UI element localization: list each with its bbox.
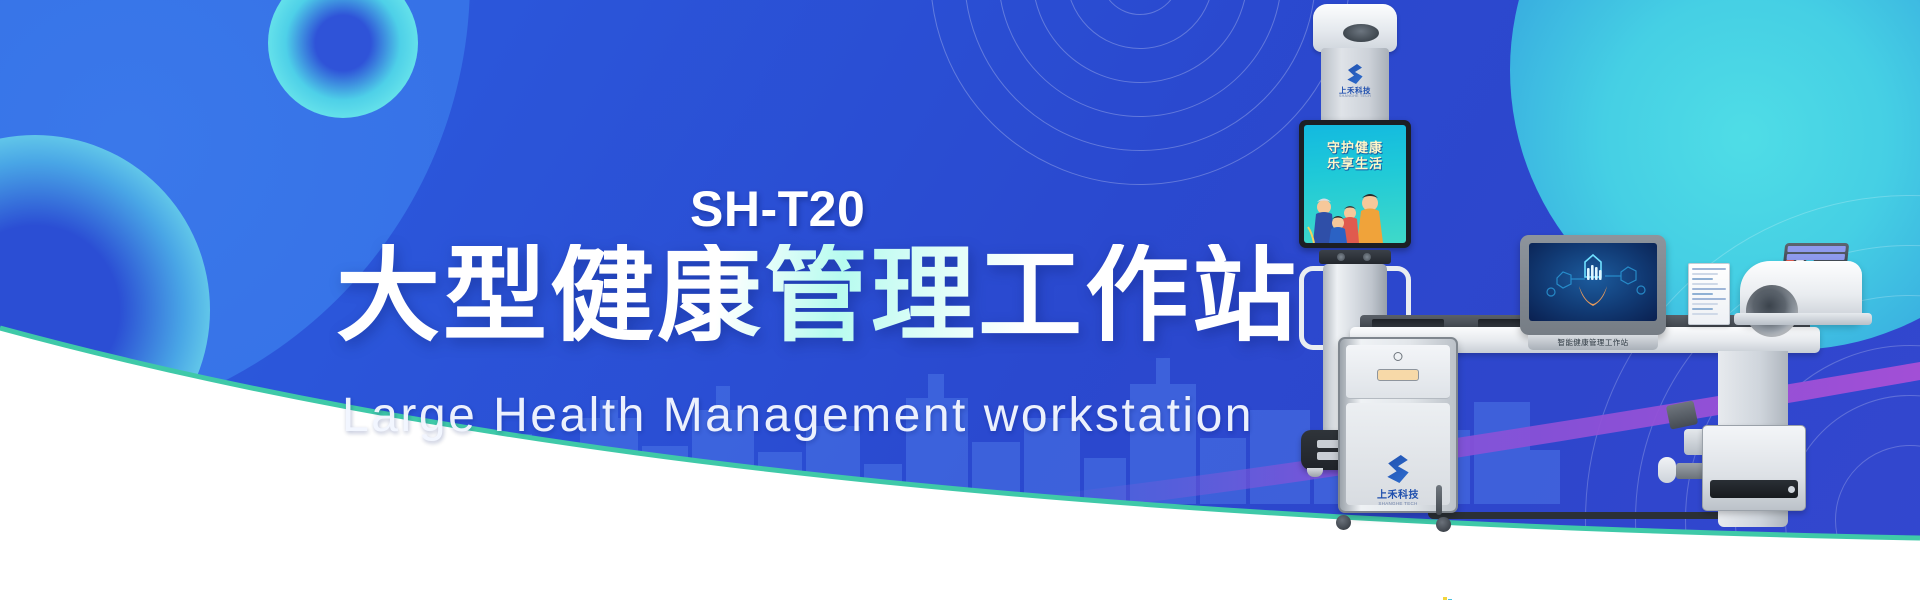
accessory-clip bbox=[1666, 400, 1698, 429]
leaflet-line bbox=[1692, 293, 1713, 295]
workstation-monitor: 智能健康管理工作站 bbox=[1520, 235, 1666, 335]
model-code: SH-T20 bbox=[690, 180, 865, 238]
kiosk-screen-line2: 乐享生活 bbox=[1304, 153, 1406, 172]
kiosk-foot bbox=[1307, 468, 1323, 477]
cabinet-brand-logo: 上禾科技 SHANGHE TECH bbox=[1377, 455, 1419, 506]
health-data-hand-icon bbox=[1529, 243, 1657, 321]
family-illustration-icon bbox=[1304, 181, 1406, 243]
cabinet-upper-drawer[interactable] bbox=[1346, 345, 1450, 399]
printer-unit bbox=[1702, 425, 1806, 511]
cabinet-handle[interactable] bbox=[1436, 485, 1442, 515]
monitor-stand-label: 智能健康管理工作站 bbox=[1557, 337, 1628, 348]
cabinet-brand-en: SHANGHE TECH bbox=[1377, 501, 1419, 506]
height-sensor-icon bbox=[1343, 24, 1379, 42]
leaflet-line bbox=[1692, 273, 1718, 275]
blood-pressure-monitor bbox=[1740, 243, 1872, 335]
kiosk-display[interactable]: 守护健康 乐享生活 bbox=[1304, 125, 1406, 243]
caster-wheel bbox=[1336, 515, 1351, 530]
page-title: 大型健康管理工作站 bbox=[336, 244, 1299, 348]
workstation-desk: 智能健康管理工作站 bbox=[1350, 285, 1820, 535]
brand-mark-icon bbox=[1345, 64, 1365, 84]
sensor-dot-icon bbox=[1363, 253, 1371, 261]
bp-arm-cuff bbox=[1746, 285, 1798, 337]
leaflet-holder bbox=[1688, 263, 1730, 325]
kiosk-sensor-bar bbox=[1319, 250, 1391, 264]
product-image: 上禾科技 SHANGHE TECH 守护健康 乐享生活 bbox=[1255, 0, 1920, 600]
page-subtitle: Large Health Management workstation bbox=[342, 388, 1254, 443]
lock-icon bbox=[1394, 352, 1403, 361]
printer-output-slot bbox=[1710, 480, 1798, 498]
storage-cabinet: 上禾科技 SHANGHE TECH bbox=[1338, 337, 1458, 513]
kiosk-brand-logo: 上禾科技 SHANGHE TECH bbox=[1339, 64, 1371, 98]
printer-indicator-icon bbox=[1788, 486, 1795, 493]
bp-screen-line bbox=[1787, 246, 1846, 252]
kiosk-handle-left bbox=[1299, 266, 1325, 350]
kiosk-neck: 上禾科技 SHANGHE TECH bbox=[1321, 48, 1389, 124]
bp-base-plate bbox=[1734, 313, 1872, 325]
leaflet-line bbox=[1692, 278, 1713, 280]
monitor-bezel bbox=[1520, 235, 1666, 335]
sensor-dot-icon bbox=[1337, 253, 1345, 261]
leaflet-line bbox=[1692, 268, 1726, 270]
leaflet-line bbox=[1692, 303, 1718, 305]
kiosk-display-frame: 守护健康 乐享生活 bbox=[1299, 120, 1411, 248]
leaflet-line bbox=[1692, 288, 1726, 290]
product-banner: SH-T20 大型健康管理工作站 Large Health Management… bbox=[0, 0, 1920, 600]
cabinet-lower-door[interactable]: 上禾科技 SHANGHE TECH bbox=[1346, 403, 1450, 505]
card-tray bbox=[1377, 369, 1419, 381]
leaflet-line bbox=[1692, 283, 1718, 285]
brand-mark-icon bbox=[1384, 455, 1412, 483]
monitor-screen[interactable] bbox=[1529, 243, 1657, 321]
paper-roll-icon bbox=[1658, 457, 1676, 483]
cabinet-brand-cn: 上禾科技 bbox=[1377, 486, 1419, 501]
caster-wheel bbox=[1436, 517, 1451, 532]
kiosk-brand-en: SHANGHE TECH bbox=[1339, 95, 1371, 99]
leaflet-line bbox=[1692, 298, 1726, 300]
leaflet-line bbox=[1692, 313, 1718, 315]
kiosk-head-unit bbox=[1313, 4, 1397, 52]
leaflet-line bbox=[1692, 308, 1713, 310]
monitor-stand: 智能健康管理工作站 bbox=[1528, 335, 1658, 350]
